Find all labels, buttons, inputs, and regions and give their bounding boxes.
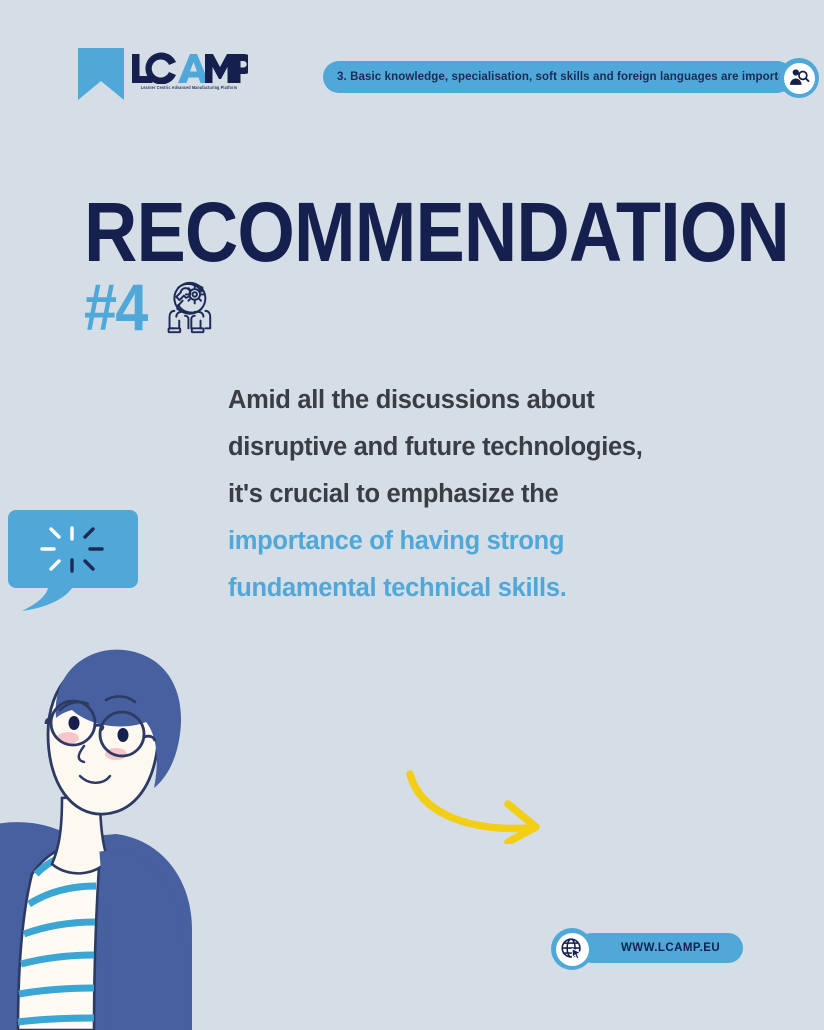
lcamp-wordmark-wrap: Learner Centric Advanced Manufacturing P… [130, 48, 248, 89]
body-line: fundamental technical skills. [228, 565, 748, 612]
header-banner-badge[interactable] [779, 58, 819, 98]
body-copy: Amid all the discussions about disruptiv… [228, 377, 748, 612]
lcamp-wordmark [130, 51, 248, 84]
body-line: Amid all the discussions about [228, 377, 748, 424]
header-banner-badge-inner [784, 63, 815, 94]
header-banner-text: 3. Basic knowledge, specialisation, soft… [323, 71, 796, 83]
body-line: disruptive and future technologies, [228, 424, 748, 471]
page-title: RECOMMENDATION [84, 196, 647, 268]
title-block: RECOMMENDATION #4 [84, 196, 724, 340]
lcamp-tagline: Learner Centric Advanced Manufacturing P… [130, 85, 248, 90]
poster-canvas: Learner Centric Advanced Manufacturing P… [0, 0, 824, 1030]
title-subline: #4 [84, 274, 724, 340]
curved-arrow-right-icon [404, 766, 560, 844]
hands-holding-globe-gear-icon [155, 276, 217, 338]
header-banner: 3. Basic knowledge, specialisation, soft… [323, 58, 823, 98]
globe-cursor-icon [560, 937, 584, 961]
body-line: importance of having strong [228, 518, 748, 565]
young-man-with-glasses-illustration [0, 638, 216, 1030]
bookmark-icon [78, 48, 124, 100]
footer-globe-inner [556, 933, 589, 966]
lcamp-logo[interactable]: Learner Centric Advanced Manufacturing P… [78, 48, 248, 100]
body-line: it's crucial to emphasize the [228, 471, 748, 518]
footer-url-text: WWW.LCAMP.EU [577, 942, 720, 954]
footer-pill: WWW.LCAMP.EU [577, 933, 743, 963]
person-magnifier-icon [788, 67, 810, 89]
header: Learner Centric Advanced Manufacturing P… [78, 48, 824, 108]
footer-globe-badge [551, 928, 593, 970]
speech-bubble-shine-icon [8, 508, 138, 614]
footer-website-badge[interactable]: WWW.LCAMP.EU [551, 928, 743, 970]
recommendation-number: #4 [84, 274, 146, 340]
header-banner-pill[interactable]: 3. Basic knowledge, specialisation, soft… [323, 61, 793, 93]
